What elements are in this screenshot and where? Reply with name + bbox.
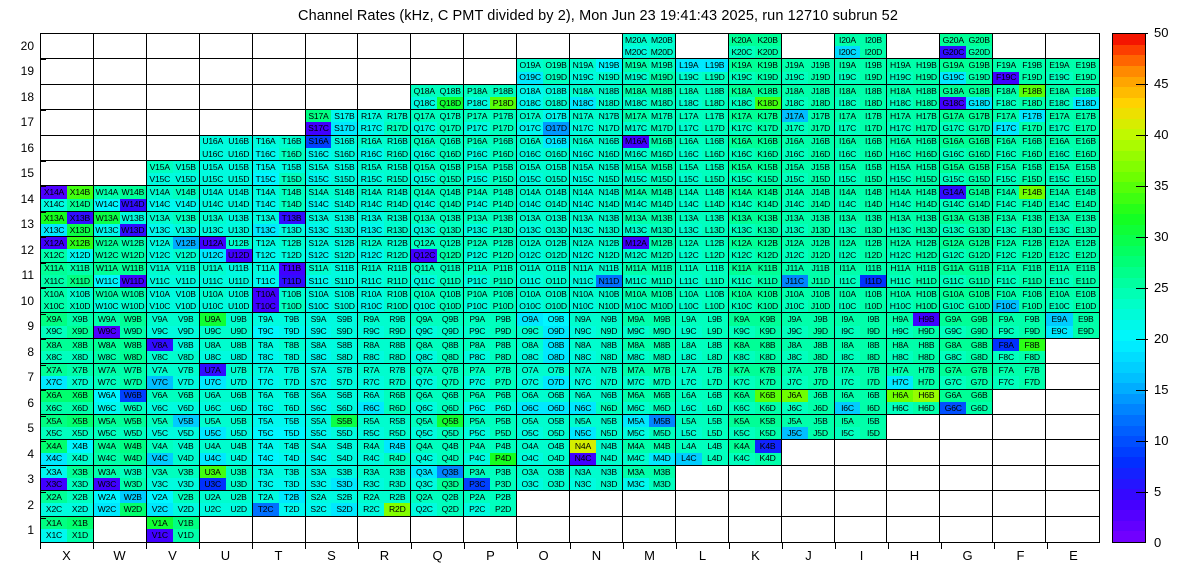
channel-X3C[interactable]: X3C xyxy=(41,478,67,490)
channel-H13A[interactable]: H13A xyxy=(887,212,913,224)
channel-U15B[interactable]: U15B xyxy=(226,161,252,173)
channel-Q4B[interactable]: Q4B xyxy=(437,440,463,452)
heatmap-cell-U12[interactable]: U12AU12BU12CU12D xyxy=(200,237,253,262)
heatmap-cell-E18[interactable]: E18AE18BE18CE18D xyxy=(1046,85,1099,110)
channel-V1C[interactable]: V1C xyxy=(147,529,173,542)
channel-S7B[interactable]: S7B xyxy=(331,364,357,376)
heatmap-cell-T19[interactable] xyxy=(253,59,306,84)
heatmap-cell-R6[interactable]: R6AR6BR6CR6D xyxy=(358,390,411,415)
channel-M19D[interactable]: M19D xyxy=(649,72,675,84)
heatmap-cell-O8[interactable]: O8AO8BO8CO8D xyxy=(517,339,570,364)
channel-K12A[interactable]: K12A xyxy=(729,237,755,249)
channel-N13C[interactable]: N13C xyxy=(570,224,596,236)
heatmap-cell-V6[interactable]: V6AV6BV6CV6D xyxy=(147,390,200,415)
channel-T9C[interactable]: T9C xyxy=(253,326,279,338)
channel-M6D[interactable]: M6D xyxy=(649,402,675,414)
channel-X1C[interactable]: X1C xyxy=(41,529,67,542)
channel-Q14A[interactable]: Q14A xyxy=(411,186,437,198)
channel-W4D[interactable]: W4D xyxy=(120,453,146,465)
channel-X4D[interactable]: X4D xyxy=(67,453,93,465)
channel-I17B[interactable]: I17B xyxy=(860,110,886,122)
heatmap-cell-F1[interactable] xyxy=(993,517,1046,542)
channel-T4A[interactable]: T4A xyxy=(253,440,279,452)
channel-P11C[interactable]: P11C xyxy=(464,275,490,287)
channel-M10C[interactable]: M10C xyxy=(623,300,649,312)
heatmap-cell-E19[interactable]: E19AE19BE19CE19D xyxy=(1046,59,1099,84)
channel-R10A[interactable]: R10A xyxy=(358,288,384,300)
channel-Q17D[interactable]: Q17D xyxy=(437,122,463,134)
channel-O13B[interactable]: O13B xyxy=(543,212,569,224)
channel-X2D[interactable]: X2D xyxy=(67,503,93,515)
channel-T11D[interactable]: T11D xyxy=(279,275,305,287)
channel-E17B[interactable]: E17B xyxy=(1073,110,1099,122)
heatmap-cell-F4[interactable] xyxy=(993,440,1046,465)
heatmap-cell-H20[interactable] xyxy=(887,34,940,59)
heatmap-cell-E5[interactable] xyxy=(1046,415,1099,440)
channel-I16A[interactable]: I16A xyxy=(835,136,861,148)
heatmap-cell-X19[interactable] xyxy=(41,59,94,84)
heatmap-cell-H19[interactable]: H19AH19BH19CH19D xyxy=(887,59,940,84)
channel-U7A[interactable]: U7A xyxy=(200,364,226,376)
channel-Q13D[interactable]: Q13D xyxy=(437,224,463,236)
channel-T4B[interactable]: T4B xyxy=(279,440,305,452)
channel-R2A[interactable]: R2A xyxy=(358,491,384,503)
heatmap-cell-M15[interactable]: M15AM15BM15CM15D xyxy=(623,161,676,186)
channel-W11A[interactable]: W11A xyxy=(94,263,120,275)
heatmap-cell-Q4[interactable]: Q4AQ4BQ4CQ4D xyxy=(411,440,464,465)
channel-O10D[interactable]: O10D xyxy=(543,300,569,312)
channel-I16C[interactable]: I16C xyxy=(835,148,861,160)
channel-L8A[interactable]: L8A xyxy=(676,339,702,351)
channel-O9A[interactable]: O9A xyxy=(517,313,543,325)
channel-L6A[interactable]: L6A xyxy=(676,390,702,402)
channel-I7D[interactable]: I7D xyxy=(860,376,886,388)
channel-I18A[interactable]: I18A xyxy=(835,85,861,97)
channel-G7B[interactable]: G7B xyxy=(966,364,992,376)
channel-F15D[interactable]: F15D xyxy=(1019,173,1045,185)
heatmap-cell-V16[interactable] xyxy=(147,136,200,161)
channel-N16D[interactable]: N16D xyxy=(596,148,622,160)
channel-U7D[interactable]: U7D xyxy=(226,376,252,388)
channel-W3B[interactable]: W3B xyxy=(120,466,146,478)
channel-I12A[interactable]: I12A xyxy=(835,237,861,249)
channel-Q16C[interactable]: Q16C xyxy=(411,148,437,160)
channel-T10A[interactable]: T10A xyxy=(253,288,279,300)
heatmap-cell-O17[interactable]: O17AO17BO17CO17D xyxy=(517,110,570,135)
heatmap-cell-K10[interactable]: K10AK10BK10CK10D xyxy=(729,288,782,313)
heatmap-cell-I4[interactable] xyxy=(835,440,888,465)
channel-T16B[interactable]: T16B xyxy=(279,136,305,148)
channel-W8A[interactable]: W8A xyxy=(94,339,120,351)
heatmap-cell-H6[interactable]: H6AH6BH6CH6D xyxy=(887,390,940,415)
channel-U2A[interactable]: U2A xyxy=(200,491,226,503)
channel-P15B[interactable]: P15B xyxy=(490,161,516,173)
channel-Q17C[interactable]: Q17C xyxy=(411,122,437,134)
channel-V4C[interactable]: V4C xyxy=(147,453,173,465)
channel-X10A[interactable]: X10A xyxy=(41,288,67,300)
channel-W9D[interactable]: W9D xyxy=(120,326,146,338)
channel-T12A[interactable]: T12A xyxy=(253,237,279,249)
heatmap-cell-I6[interactable]: I6AI6BI6CI6D xyxy=(835,390,888,415)
channel-T14D[interactable]: T14D xyxy=(279,199,305,211)
channel-O11D[interactable]: O11D xyxy=(543,275,569,287)
channel-P10C[interactable]: P10C xyxy=(464,300,490,312)
channel-T10D[interactable]: T10D xyxy=(279,300,305,312)
channel-L12A[interactable]: L12A xyxy=(676,237,702,249)
channel-N16B[interactable]: N16B xyxy=(596,136,622,148)
heatmap-cell-U9[interactable]: U9AU9BU9CU9D xyxy=(200,313,253,338)
heatmap-cell-W1[interactable] xyxy=(94,517,147,542)
channel-O3D[interactable]: O3D xyxy=(543,478,569,490)
channel-Q3C[interactable]: Q3C xyxy=(411,478,437,490)
channel-V10B[interactable]: V10B xyxy=(173,288,199,300)
channel-M18C[interactable]: M18C xyxy=(623,97,649,109)
channel-Q2D[interactable]: Q2D xyxy=(437,503,463,515)
channel-G14D[interactable]: G14D xyxy=(966,199,992,211)
channel-X8B[interactable]: X8B xyxy=(67,339,93,351)
channel-N17D[interactable]: N17D xyxy=(596,122,622,134)
channel-H9D[interactable]: H9D xyxy=(913,326,939,338)
channel-G15C[interactable]: G15C xyxy=(940,173,966,185)
channel-R6B[interactable]: R6B xyxy=(384,390,410,402)
heatmap-cell-T15[interactable]: T15AT15BT15CT15D xyxy=(253,161,306,186)
channel-E18C[interactable]: E18C xyxy=(1046,97,1072,109)
channel-Q2C[interactable]: Q2C xyxy=(411,503,437,515)
channel-Q5A[interactable]: Q5A xyxy=(411,415,437,427)
channel-H19D[interactable]: H19D xyxy=(913,72,939,84)
channel-L16A[interactable]: L16A xyxy=(676,136,702,148)
heatmap-cell-M4[interactable]: M4AM4BM4CM4D xyxy=(623,440,676,465)
channel-Q14B[interactable]: Q14B xyxy=(437,186,463,198)
channel-I20A[interactable]: I20A xyxy=(835,34,861,46)
channel-N10A[interactable]: N10A xyxy=(570,288,596,300)
heatmap-cell-W4[interactable]: W4AW4BW4CW4D xyxy=(94,440,147,465)
channel-P3C[interactable]: P3C xyxy=(464,478,490,490)
channel-X4B[interactable]: X4B xyxy=(67,440,93,452)
heatmap-cell-M10[interactable]: M10AM10BM10CM10D xyxy=(623,288,676,313)
heatmap-cell-R11[interactable]: R11AR11BR11CR11D xyxy=(358,263,411,288)
channel-F16A[interactable]: F16A xyxy=(993,136,1019,148)
channel-J19C[interactable]: J19C xyxy=(782,72,808,84)
channel-V14D[interactable]: V14D xyxy=(173,199,199,211)
channel-N9B[interactable]: N9B xyxy=(596,313,622,325)
channel-M6B[interactable]: M6B xyxy=(649,390,675,402)
channel-I14B[interactable]: I14B xyxy=(860,186,886,198)
channel-V9B[interactable]: V9B xyxy=(173,313,199,325)
heatmap-cell-R8[interactable]: R8AR8BR8CR8D xyxy=(358,339,411,364)
channel-P8C[interactable]: P8C xyxy=(464,351,490,363)
channel-M5C[interactable]: M5C xyxy=(623,427,649,439)
heatmap-cell-M7[interactable]: M7AM7BM7CM7D xyxy=(623,364,676,389)
channel-N14A[interactable]: N14A xyxy=(570,186,596,198)
channel-U4D[interactable]: U4D xyxy=(226,453,252,465)
heatmap-cell-J14[interactable]: J14AJ14BJ14CJ14D xyxy=(782,186,835,211)
heatmap-cell-G2[interactable] xyxy=(940,491,993,516)
heatmap-cell-Q3[interactable]: Q3AQ3BQ3CQ3D xyxy=(411,466,464,491)
channel-M17C[interactable]: M17C xyxy=(623,122,649,134)
channel-M19C[interactable]: M19C xyxy=(623,72,649,84)
channel-S10A[interactable]: S10A xyxy=(306,288,332,300)
heatmap-cell-U2[interactable]: U2AU2BU2CU2D xyxy=(200,491,253,516)
channel-I15B[interactable]: I15B xyxy=(860,161,886,173)
channel-U16D[interactable]: U16D xyxy=(226,148,252,160)
channel-G12A[interactable]: G12A xyxy=(940,237,966,249)
heatmap-cell-Q6[interactable]: Q6AQ6BQ6CQ6D xyxy=(411,390,464,415)
channel-L10A[interactable]: L10A xyxy=(676,288,702,300)
channel-S14D[interactable]: S14D xyxy=(331,199,357,211)
heatmap-cell-G7[interactable]: G7AG7BG7CG7D xyxy=(940,364,993,389)
channel-R15A[interactable]: R15A xyxy=(358,161,384,173)
channel-K12B[interactable]: K12B xyxy=(755,237,781,249)
channel-P18A[interactable]: P18A xyxy=(464,85,490,97)
channel-G12C[interactable]: G12C xyxy=(940,249,966,261)
heatmap-cell-E4[interactable] xyxy=(1046,440,1099,465)
channel-H6B[interactable]: H6B xyxy=(913,390,939,402)
channel-R13C[interactable]: R13C xyxy=(358,224,384,236)
channel-P7C[interactable]: P7C xyxy=(464,376,490,388)
channel-N5A[interactable]: N5A xyxy=(570,415,596,427)
channel-I8D[interactable]: I8D xyxy=(860,351,886,363)
heatmap-cell-L13[interactable]: L13AL13BL13CL13D xyxy=(676,212,729,237)
channel-X13A[interactable]: X13A xyxy=(41,212,67,224)
channel-G11C[interactable]: G11C xyxy=(940,275,966,287)
heatmap-cell-W20[interactable] xyxy=(94,34,147,59)
channel-H13D[interactable]: H13D xyxy=(913,224,939,236)
channel-O19B[interactable]: O19B xyxy=(543,59,569,71)
channel-M9D[interactable]: M9D xyxy=(649,326,675,338)
channel-T8B[interactable]: T8B xyxy=(279,339,305,351)
heatmap-cell-H13[interactable]: H13AH13BH13CH13D xyxy=(887,212,940,237)
channel-O3A[interactable]: O3A xyxy=(517,466,543,478)
channel-R17B[interactable]: R17B xyxy=(384,110,410,122)
heatmap-cell-Q18[interactable]: Q18AQ18BQ18CQ18D xyxy=(411,85,464,110)
channel-J17C[interactable]: J17C xyxy=(782,122,808,134)
channel-V5B[interactable]: V5B xyxy=(173,415,199,427)
channel-Q16B[interactable]: Q16B xyxy=(437,136,463,148)
heatmap-cell-M17[interactable]: M17AM17BM17CM17D xyxy=(623,110,676,135)
heatmap-cell-G12[interactable]: G12AG12BG12CG12D xyxy=(940,237,993,262)
channel-G8C[interactable]: G8C xyxy=(940,351,966,363)
channel-U6D[interactable]: U6D xyxy=(226,402,252,414)
channel-N19A[interactable]: N19A xyxy=(570,59,596,71)
heatmap-cell-S10[interactable]: S10AS10BS10CS10D xyxy=(306,288,359,313)
channel-V15C[interactable]: V15C xyxy=(147,173,173,185)
channel-V13C[interactable]: V13C xyxy=(147,224,173,236)
heatmap-cell-P2[interactable]: P2AP2BP2CP2D xyxy=(464,491,517,516)
channel-P7A[interactable]: P7A xyxy=(464,364,490,376)
channel-M11C[interactable]: M11C xyxy=(623,275,649,287)
heatmap-cell-I15[interactable]: I15AI15BI15CI15D xyxy=(835,161,888,186)
channel-V7D[interactable]: V7D xyxy=(173,376,199,388)
channel-K5B[interactable]: K5B xyxy=(755,415,781,427)
channel-U11B[interactable]: U11B xyxy=(226,263,252,275)
channel-E9A[interactable]: E9A xyxy=(1046,313,1072,325)
channel-G6C[interactable]: G6C xyxy=(940,402,966,414)
heatmap-cell-N11[interactable]: N11AN11BN11CN11D xyxy=(570,263,623,288)
heatmap-cell-K16[interactable]: K16AK16BK16CK16D xyxy=(729,136,782,161)
channel-N18A[interactable]: N18A xyxy=(570,85,596,97)
channel-W12C[interactable]: W12C xyxy=(94,249,120,261)
channel-M12B[interactable]: M12B xyxy=(649,237,675,249)
channel-Q10C[interactable]: Q10C xyxy=(411,300,437,312)
heatmap-cell-R2[interactable]: R2AR2BR2CR2D xyxy=(358,491,411,516)
channel-R7A[interactable]: R7A xyxy=(358,364,384,376)
heatmap-cell-K5[interactable]: K5AK5BK5CK5D xyxy=(729,415,782,440)
heatmap-cell-K14[interactable]: K14AK14BK14CK14D xyxy=(729,186,782,211)
channel-V11A[interactable]: V11A xyxy=(147,263,173,275)
channel-O8B[interactable]: O8B xyxy=(543,339,569,351)
channel-E13C[interactable]: E13C xyxy=(1046,224,1072,236)
heatmap-cell-L1[interactable] xyxy=(676,517,729,542)
channel-E16C[interactable]: E16C xyxy=(1046,148,1072,160)
channel-X5A[interactable]: X5A xyxy=(41,415,67,427)
channel-M14B[interactable]: M14B xyxy=(649,186,675,198)
channel-J11B[interactable]: J11B xyxy=(808,263,834,275)
channel-M7C[interactable]: M7C xyxy=(623,376,649,388)
channel-M8A[interactable]: M8A xyxy=(623,339,649,351)
channel-F13B[interactable]: F13B xyxy=(1019,212,1045,224)
channel-H19C[interactable]: H19C xyxy=(887,72,913,84)
channel-G20B[interactable]: G20B xyxy=(966,34,992,46)
channel-L16D[interactable]: L16D xyxy=(702,148,728,160)
heatmap-cell-E11[interactable]: E11AE11BE11CE11D xyxy=(1046,263,1099,288)
channel-J6B[interactable]: J6B xyxy=(808,390,834,402)
channel-I7B[interactable]: I7B xyxy=(860,364,886,376)
channel-P17D[interactable]: P17D xyxy=(490,122,516,134)
heatmap-cell-W18[interactable] xyxy=(94,85,147,110)
channel-R16B[interactable]: R16B xyxy=(384,136,410,148)
channel-E15D[interactable]: E15D xyxy=(1073,173,1099,185)
channel-F18B[interactable]: F18B xyxy=(1019,85,1045,97)
channel-F18A[interactable]: F18A xyxy=(993,85,1019,97)
channel-K6B[interactable]: K6B xyxy=(755,390,781,402)
channel-N18D[interactable]: N18D xyxy=(596,97,622,109)
channel-T10C[interactable]: T10C xyxy=(253,300,279,312)
heatmap-cell-T4[interactable]: T4AT4BT4CT4D xyxy=(253,440,306,465)
channel-G19B[interactable]: G19B xyxy=(966,59,992,71)
channel-P16C[interactable]: P16C xyxy=(464,148,490,160)
channel-R12C[interactable]: R12C xyxy=(358,249,384,261)
heatmap-cell-N4[interactable]: N4AN4BN4CN4D xyxy=(570,440,623,465)
heatmap-cell-G19[interactable]: G19AG19BG19CG19D xyxy=(940,59,993,84)
channel-K14D[interactable]: K14D xyxy=(755,199,781,211)
channel-L19D[interactable]: L19D xyxy=(702,72,728,84)
channel-G10C[interactable]: G10C xyxy=(940,300,966,312)
channel-T10B[interactable]: T10B xyxy=(279,288,305,300)
channel-S9B[interactable]: S9B xyxy=(331,313,357,325)
channel-Q18C[interactable]: Q18C xyxy=(411,97,437,109)
channel-N7A[interactable]: N7A xyxy=(570,364,596,376)
channel-V3A[interactable]: V3A xyxy=(147,466,173,478)
heatmap-cell-M18[interactable]: M18AM18BM18CM18D xyxy=(623,85,676,110)
channel-X11D[interactable]: X11D xyxy=(67,275,93,287)
channel-X11C[interactable]: X11C xyxy=(41,275,67,287)
channel-M12C[interactable]: M12C xyxy=(623,249,649,261)
heatmap-cell-L17[interactable]: L17AL17BL17CL17D xyxy=(676,110,729,135)
channel-P16B[interactable]: P16B xyxy=(490,136,516,148)
channel-P10D[interactable]: P10D xyxy=(490,300,516,312)
channel-K18D[interactable]: K18D xyxy=(755,97,781,109)
channel-H8C[interactable]: H8C xyxy=(887,351,913,363)
channel-Q11B[interactable]: Q11B xyxy=(437,263,463,275)
channel-M10B[interactable]: M10B xyxy=(649,288,675,300)
channel-L16B[interactable]: L16B xyxy=(702,136,728,148)
heatmap-cell-V4[interactable]: V4AV4BV4CV4D xyxy=(147,440,200,465)
channel-P7B[interactable]: P7B xyxy=(490,364,516,376)
channel-W7B[interactable]: W7B xyxy=(120,364,146,376)
channel-I13C[interactable]: I13C xyxy=(835,224,861,236)
channel-M7A[interactable]: M7A xyxy=(623,364,649,376)
channel-K6C[interactable]: K6C xyxy=(729,402,755,414)
channel-I5B[interactable]: I5B xyxy=(860,415,886,427)
channel-V4A[interactable]: V4A xyxy=(147,440,173,452)
channel-U9B[interactable]: U9B xyxy=(226,313,252,325)
channel-O13A[interactable]: O13A xyxy=(517,212,543,224)
heatmap-cell-R15[interactable]: R15AR15BR15CR15D xyxy=(358,161,411,186)
channel-V3C[interactable]: V3C xyxy=(147,478,173,490)
channel-O12D[interactable]: O12D xyxy=(543,249,569,261)
heatmap-cell-L16[interactable]: L16AL16BL16CL16D xyxy=(676,136,729,161)
heatmap-cell-O7[interactable]: O7AO7BO7CO7D xyxy=(517,364,570,389)
channel-P6A[interactable]: P6A xyxy=(464,390,490,402)
channel-T7A[interactable]: T7A xyxy=(253,364,279,376)
channel-N9A[interactable]: N9A xyxy=(570,313,596,325)
channel-L6C[interactable]: L6C xyxy=(676,402,702,414)
channel-O15B[interactable]: O15B xyxy=(543,161,569,173)
channel-N19D[interactable]: N19D xyxy=(596,72,622,84)
heatmap-cell-M8[interactable]: M8AM8BM8CM8D xyxy=(623,339,676,364)
channel-J7C[interactable]: J7C xyxy=(782,376,808,388)
channel-P3B[interactable]: P3B xyxy=(490,466,516,478)
channel-P9D[interactable]: P9D xyxy=(490,326,516,338)
channel-Q9A[interactable]: Q9A xyxy=(411,313,437,325)
channel-U13A[interactable]: U13A xyxy=(200,212,226,224)
channel-M5D[interactable]: M5D xyxy=(649,427,675,439)
channel-X2B[interactable]: X2B xyxy=(67,491,93,503)
channel-J6A[interactable]: J6A xyxy=(782,390,808,402)
channel-R11A[interactable]: R11A xyxy=(358,263,384,275)
channel-U12A[interactable]: U12A xyxy=(200,237,226,249)
heatmap-cell-N16[interactable]: N16AN16BN16CN16D xyxy=(570,136,623,161)
channel-F7B[interactable]: F7B xyxy=(1019,364,1045,376)
channel-W11D[interactable]: W11D xyxy=(120,275,146,287)
channel-R12D[interactable]: R12D xyxy=(384,249,410,261)
channel-K19C[interactable]: K19C xyxy=(729,72,755,84)
channel-V3D[interactable]: V3D xyxy=(173,478,199,490)
channel-W4A[interactable]: W4A xyxy=(94,440,120,452)
channel-W11B[interactable]: W11B xyxy=(120,263,146,275)
channel-V12D[interactable]: V12D xyxy=(173,249,199,261)
channel-V4B[interactable]: V4B xyxy=(173,440,199,452)
heatmap-cell-T16[interactable]: T16AT16BT16CT16D xyxy=(253,136,306,161)
channel-G10A[interactable]: G10A xyxy=(940,288,966,300)
channel-K16A[interactable]: K16A xyxy=(729,136,755,148)
channel-K7A[interactable]: K7A xyxy=(729,364,755,376)
heatmap-cell-S12[interactable]: S12AS12BS12CS12D xyxy=(306,237,359,262)
channel-L14B[interactable]: L14B xyxy=(702,186,728,198)
channel-I20C[interactable]: I20C xyxy=(835,46,861,58)
channel-J12B[interactable]: J12B xyxy=(808,237,834,249)
channel-L7B[interactable]: L7B xyxy=(702,364,728,376)
channel-K13A[interactable]: K13A xyxy=(729,212,755,224)
channel-U10D[interactable]: U10D xyxy=(226,300,252,312)
channel-J18C[interactable]: J18C xyxy=(782,97,808,109)
heatmap-cell-K3[interactable] xyxy=(729,466,782,491)
channel-H7B[interactable]: H7B xyxy=(913,364,939,376)
channel-H16B[interactable]: H16B xyxy=(913,136,939,148)
channel-E16B[interactable]: E16B xyxy=(1073,136,1099,148)
heatmap-cell-J6[interactable]: J6AJ6BJ6CJ6D xyxy=(782,390,835,415)
